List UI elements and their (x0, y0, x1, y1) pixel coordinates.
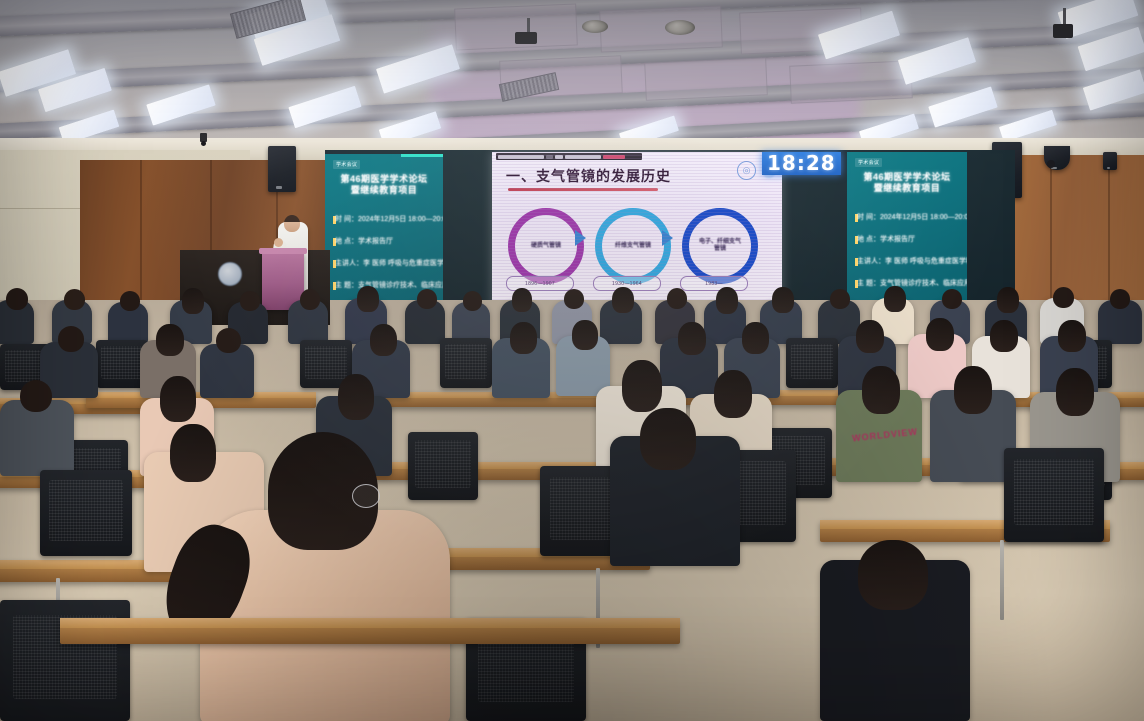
audience-hair (370, 324, 397, 356)
row-value: 李 医师 呼吸与危重症医学科 (363, 260, 443, 267)
chair-mesh (305, 346, 347, 380)
stage-ring-3: 电子、纤细支气管镜 (682, 208, 758, 284)
audience-hair (512, 288, 532, 312)
stage-ring-2: 纤维支气管镜 (595, 208, 671, 284)
projector (1053, 24, 1073, 38)
slide-title-underline (508, 188, 658, 191)
audience-hair (997, 287, 1019, 313)
row-key: 主讲人： (335, 260, 363, 267)
panel-title: 第46期医学学术论坛 暨继续教育项目 (847, 172, 967, 194)
row-value: 学术报告厅 (358, 238, 393, 245)
panel-title-line2: 暨继续教育项目 (325, 185, 443, 196)
projected-slide: ◎ 一、支气管镜的发展历史 硬质气管镜 纤维支气管镜 电子、纤细支气管镜 189… (492, 152, 782, 315)
audience-head (6, 288, 28, 310)
audience-hair (160, 376, 196, 422)
ceiling-dome-vent (665, 20, 695, 35)
audience-hair (1058, 320, 1086, 352)
audience-hair (884, 286, 906, 312)
row-key: 主 题： (335, 282, 358, 289)
row-key: 地 点： (335, 238, 358, 245)
audience-head (463, 291, 482, 311)
audience-hair (640, 408, 696, 470)
audience-hair (572, 320, 598, 350)
audience-hair (714, 370, 752, 418)
panel-title-line1: 第46期医学学术论坛 (325, 174, 443, 185)
presenter-head (284, 215, 300, 232)
toolbar-chip (565, 155, 601, 159)
desk-leg (1000, 540, 1004, 620)
audience-hair (1056, 368, 1094, 416)
slide-title: 一、支气管镜的发展历史 (506, 166, 671, 186)
podium-emblem-icon (218, 262, 242, 286)
audience-head (1110, 289, 1130, 309)
row-value: 2024年12月5日 18:00—20:00 (880, 214, 967, 221)
audience-head (240, 291, 260, 311)
projector (515, 32, 537, 44)
row-value: 2024年12月5日 18:00—20:00 (358, 216, 443, 223)
camera-left (200, 133, 207, 142)
ceiling-dome-vent (582, 20, 608, 33)
panel-title-line1: 第46期医学学术论坛 (847, 172, 967, 183)
chair-mesh (49, 480, 123, 540)
foreground-glasses (352, 484, 380, 508)
audience-hair (170, 424, 216, 482)
flow-arrow-2 (662, 230, 673, 246)
panel-title: 第46期医学学术论坛 暨继续教育项目 (325, 174, 443, 196)
audience-head (300, 289, 320, 310)
toolbar-chip (546, 155, 553, 159)
slide-toolbar (496, 153, 642, 160)
presenter-hand (274, 238, 283, 247)
ceiling-speaker (1103, 152, 1117, 170)
audience-head (830, 289, 850, 309)
stage-date-3: 1983— (680, 276, 748, 291)
chair (440, 338, 492, 388)
panel-tag: 学术会议 (855, 158, 882, 167)
row-key: 地 点： (857, 236, 880, 243)
panel-title-line2: 暨继续教育项目 (847, 183, 967, 194)
audience-hair (357, 286, 379, 312)
chair-mesh (1014, 459, 1094, 525)
audience-head (216, 328, 241, 353)
row-key: 时 间： (335, 216, 358, 223)
toolbar-chip (498, 155, 544, 159)
row-key: 主讲人： (857, 258, 885, 265)
audience-hair (990, 320, 1018, 352)
audience-hair (156, 324, 184, 356)
panel-row: 主讲人：李 医师 呼吸与危重症医学科 (335, 259, 443, 268)
desk (60, 618, 680, 644)
audience-hair (742, 322, 769, 354)
audience-hair (716, 287, 738, 314)
stage-ring-1: 硬质气管镜 (508, 208, 584, 284)
ceiling-tile (789, 60, 913, 103)
flow-arrow-1 (575, 230, 586, 246)
stage-label-3: 电子、纤细支气管镜 (698, 239, 742, 253)
audience-head (417, 289, 437, 309)
audience-head (564, 289, 584, 309)
chair (40, 470, 132, 556)
ceiling-tile (599, 5, 723, 52)
chair-mesh (445, 344, 487, 379)
audience-hair (510, 322, 537, 354)
audience-hair (612, 287, 634, 313)
audience-hair (862, 366, 900, 414)
panel-accent (401, 154, 443, 157)
podium-top (259, 248, 307, 254)
panel-row: 主 题：支气管镜诊疗技术、临床应用进展 (857, 279, 967, 288)
stage-label-2: 纤维支气管镜 (611, 243, 655, 250)
audience-head (120, 291, 140, 311)
audience-hair (182, 288, 204, 314)
audience-head (58, 326, 84, 352)
chair-mesh (791, 344, 833, 379)
panel-row: 地 点：学术报告厅 (857, 235, 915, 244)
audience-hair (926, 318, 954, 351)
panel-row: 地 点：学术报告厅 (335, 237, 393, 246)
chair-mesh (101, 346, 143, 380)
panel-row: 主讲人：李 医师 呼吸与危重症医学科 (857, 257, 967, 266)
chair (408, 432, 478, 500)
audience-head (1053, 287, 1074, 308)
ceiling-tile (644, 57, 768, 100)
audience-head (667, 288, 687, 309)
audience-head (64, 289, 85, 310)
row-value: 李 医师 呼吸与危重症医学科 (885, 258, 967, 265)
audience-hair (954, 366, 992, 414)
audience-hair (622, 360, 662, 412)
audience-hair (858, 540, 928, 610)
toolbar-chip-highlight (603, 155, 625, 159)
audience-hair (338, 374, 374, 420)
on-screen-clock: 18:28 (762, 152, 841, 175)
panel-row: 时 间：2024年12月5日 18:00—20:00 (857, 213, 967, 222)
stage-label-1: 硬质气管镜 (524, 243, 568, 250)
audience-hair (678, 322, 706, 355)
wall-speaker (268, 146, 296, 192)
audience-head (20, 380, 52, 412)
chair (1004, 448, 1104, 542)
desk-surface (60, 618, 680, 628)
chair (786, 338, 838, 388)
audience-hair (772, 287, 794, 313)
panel-row: 时 间：2024年12月5日 18:00—20:00 (335, 215, 443, 224)
camera-right (1047, 160, 1055, 168)
toolbar-chip (555, 155, 563, 159)
panel-tag: 学术会议 (333, 160, 360, 169)
chair-mesh (415, 440, 471, 488)
audience-hair (856, 320, 884, 353)
hospital-logo-icon: ◎ (737, 161, 756, 180)
audience-head (942, 289, 962, 309)
row-key: 主 题： (857, 280, 880, 287)
row-key: 时 间： (857, 214, 880, 221)
row-value: 学术报告厅 (880, 236, 915, 243)
conference-hall-photo: 学术会议 第46期医学学术论坛 暨继续教育项目 时 间：2024年12月5日 1… (0, 0, 1144, 721)
